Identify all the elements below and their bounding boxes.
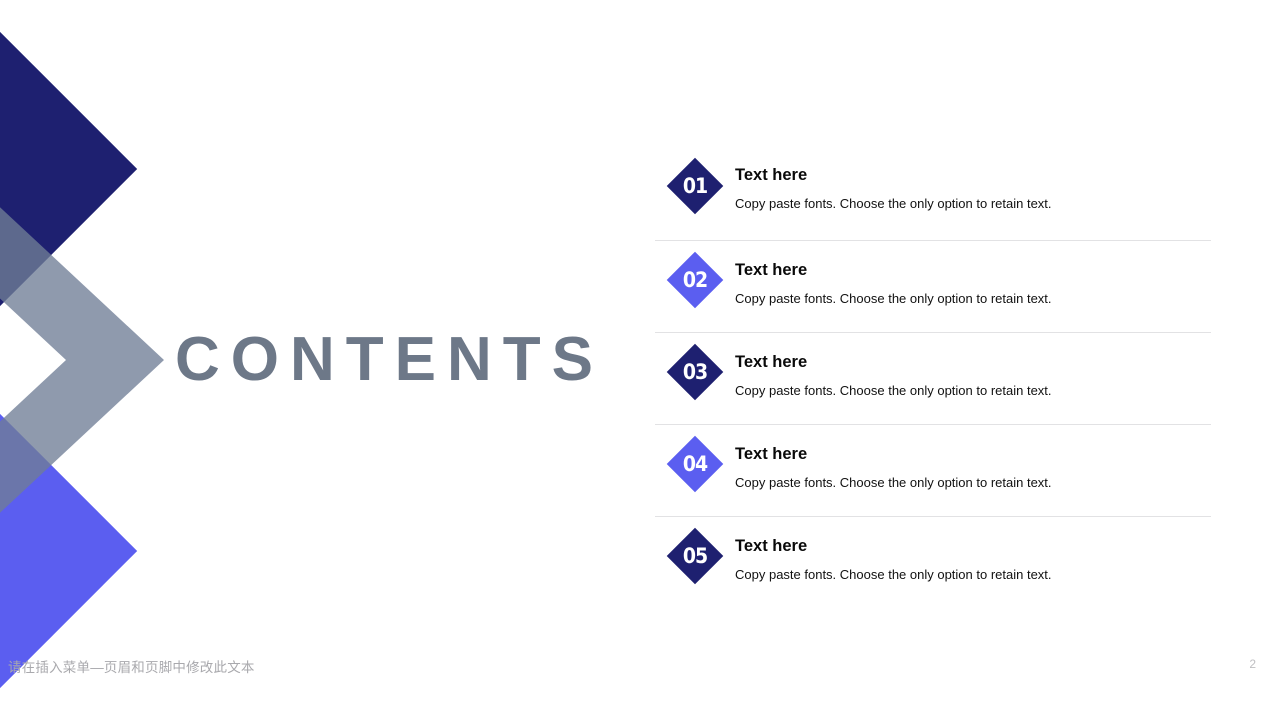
list-item-heading: Text here [735,352,1211,372]
list-item-heading: Text here [735,444,1211,464]
item-number-badge-01: 01 [667,158,724,215]
list-item-text-block: Text here Copy paste fonts. Choose the o… [735,260,1211,307]
slide-page-number: 2 [1249,657,1256,671]
list-item[interactable]: 04 Text here Copy paste fonts. Choose th… [655,424,1211,516]
list-item-heading: Text here [735,165,1211,185]
presentation-slide: CONTENTS 01 Text here Copy paste fonts. … [0,0,1280,720]
list-item[interactable]: 03 Text here Copy paste fonts. Choose th… [655,332,1211,424]
list-item-text-block: Text here Copy paste fonts. Choose the o… [735,352,1211,399]
item-number-label: 02 [675,260,715,300]
list-item-body: Copy paste fonts. Choose the only option… [735,290,1211,307]
list-item[interactable]: 05 Text here Copy paste fonts. Choose th… [655,516,1211,608]
item-number-badge-05: 05 [667,527,724,584]
list-item-text-block: Text here Copy paste fonts. Choose the o… [735,536,1211,583]
list-item-body: Copy paste fonts. Choose the only option… [735,195,1211,212]
list-item[interactable]: 01 Text here Copy paste fonts. Choose th… [655,148,1211,240]
item-number-label: 01 [675,166,715,206]
list-item-body: Copy paste fonts. Choose the only option… [735,474,1211,491]
grey-chevron-arrow-shape [0,195,164,525]
item-number-label: 03 [675,352,715,392]
contents-list: 01 Text here Copy paste fonts. Choose th… [655,148,1211,608]
list-item-body: Copy paste fonts. Choose the only option… [735,566,1211,583]
list-item-text-block: Text here Copy paste fonts. Choose the o… [735,165,1211,212]
page-title: CONTENTS [175,325,595,395]
item-number-badge-03: 03 [667,343,724,400]
item-number-label: 04 [675,444,715,484]
list-item-heading: Text here [735,260,1211,280]
list-item-body: Copy paste fonts. Choose the only option… [735,382,1211,399]
item-number-badge-04: 04 [667,435,724,492]
item-number-badge-02: 02 [667,251,724,308]
list-item-text-block: Text here Copy paste fonts. Choose the o… [735,444,1211,491]
list-item-heading: Text here [735,536,1211,556]
list-item[interactable]: 02 Text here Copy paste fonts. Choose th… [655,240,1211,332]
item-number-label: 05 [675,536,715,576]
slide-footer-text: 请在插入菜单—页眉和页脚中修改此文本 [8,656,255,676]
